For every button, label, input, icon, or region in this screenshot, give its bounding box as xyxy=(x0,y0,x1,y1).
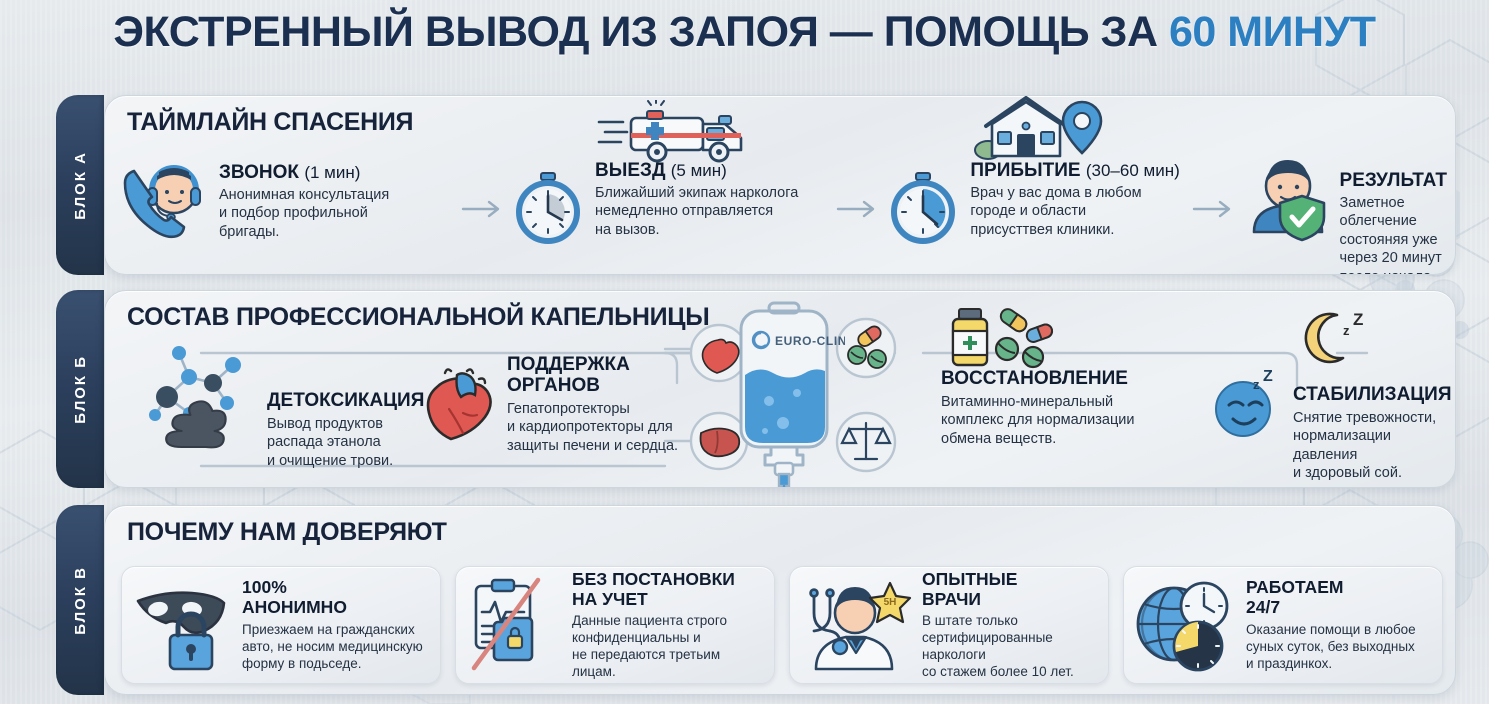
bitem-recovery-head: ВОССТАНОВЛЕНИЕ xyxy=(941,369,1134,390)
svg-text:EURO-CLINIC: EURO-CLINIC xyxy=(775,334,845,348)
bitem-stabilization[interactable]: z Z СТАБИЛИЗАЦИЯ Снятие тревожности, нор… xyxy=(1209,367,1456,483)
vitamins-bottle-icon xyxy=(941,305,1061,373)
moon-sleep-icon: z Z xyxy=(1293,305,1377,371)
svg-text:z: z xyxy=(1253,377,1260,392)
block-b: БЛОК Б СОСТАВ ПРОФЕССИОНАЛЬНОЙ КАПЕЛЬНИЦ… xyxy=(56,290,1456,488)
page-title: ЭКСТРЕННЫЙ ВЫВОД ИЗ ЗАПОЯ — ПОМОЩЬ ЗА 60… xyxy=(0,8,1489,57)
arrow-right-icon xyxy=(836,198,880,220)
doctor-star-icon: 5H xyxy=(798,575,914,675)
block-b-tab: БЛОК Б xyxy=(56,290,104,488)
trust-card-no-record[interactable]: БЕЗ ПОСТАНОВКИ НА УЧЕТ Данные пациента с… xyxy=(455,566,775,684)
timeline-step-arrival[interactable]: ПРИБЫТИЕ (30–60 мин) Врач у вас дома в л… xyxy=(884,148,1187,248)
step-call-desc: Анонимная консультация и подбор профильн… xyxy=(219,186,389,241)
globe-clock-icon xyxy=(1132,576,1238,674)
svg-text:Z: Z xyxy=(1263,369,1273,385)
step-arrival-head: ПРИБЫТИЕ xyxy=(970,160,1080,181)
bitem-detox[interactable]: ДЕТОКСИКАЦИЯ Вывод продуктов распада эта… xyxy=(141,343,391,470)
bitem-organs-head: ПОДДЕРЖКА ОРГАНОВ xyxy=(507,355,678,397)
step-departure-time: (5 мин) xyxy=(671,161,727,180)
step-departure-head: ВЫЕЗД xyxy=(595,160,665,181)
block-a-tab: БЛОК А xyxy=(56,95,104,275)
step-call-head: ЗВОНОК xyxy=(219,162,299,183)
timeline-step-call-text: ЗВОНОК (1 мин) Анонимная консультация и … xyxy=(219,148,389,241)
block-a-panel: ТАЙМЛАЙН СПАСЕНИЯ ЗВО xyxy=(104,95,1456,275)
trust-doctors-desc: В штате только сертифицированные нарколо… xyxy=(922,612,1098,680)
timeline-step-call[interactable]: ЗВОНОК (1 мин) Анонимная консультация и … xyxy=(119,148,457,241)
sleeping-face-icon: z Z xyxy=(1209,369,1283,443)
block-a-title: ТАЙМЛАЙН СПАСЕНИЯ xyxy=(127,108,413,137)
trust-cards-row: 100% АНОНИМНО Приезжаем на гражданских а… xyxy=(121,566,1443,684)
phone-headset-operator-icon xyxy=(119,148,211,240)
step-result-desc: Заметное облегчение состояняя уже через … xyxy=(1340,194,1447,275)
bitem-stabilization-head: СТАБИЛИЗАЦИЯ xyxy=(1293,385,1456,406)
bitem-detox-desc: Вывод продуктов распада этанола и очищен… xyxy=(267,415,424,470)
svg-text:z: z xyxy=(1343,323,1350,338)
arrow-right-icon xyxy=(461,198,505,220)
block-a-tab-label: БЛОК А xyxy=(72,151,89,220)
page-title-main: ЭКСТРЕННЫЙ ВЫВОД ИЗ ЗАПОЯ — ПОМОЩЬ ЗА xyxy=(113,8,1169,56)
trust-247-desc: Оказание помощи в любое суных суток, без… xyxy=(1246,621,1416,672)
step-departure-desc: Ближайший экипаж нарколога немедленно от… xyxy=(595,184,798,239)
heart-icon xyxy=(423,363,497,443)
block-c-tab: БЛОК В xyxy=(56,505,104,695)
arrow-right-icon xyxy=(1192,198,1236,220)
bitem-recovery-desc: Витаминно-минеральный комплекс для норма… xyxy=(941,393,1134,448)
trust-doctors-head: ОПЫТНЫЕ ВРАЧИ xyxy=(922,570,1098,609)
block-c-panel: ПОЧЕМУ НАМ ДОВЕРЯЮТ 100% АНОНИМНО Приезж… xyxy=(104,505,1456,695)
step-result-head: РЕЗУЛЬТАТ xyxy=(1340,170,1447,191)
bitem-stabilization-desc: Снятие тревожности, нормализации давлени… xyxy=(1293,409,1456,483)
trust-card-doctors[interactable]: 5H ОПЫТНЫЕ ВРАЧИ В штате только сертифиц… xyxy=(789,566,1109,684)
bitem-detox-head: ДЕТОКСИКАЦИЯ xyxy=(267,391,424,412)
block-c-tab-label: БЛОК В xyxy=(72,566,89,635)
stopwatch-icon xyxy=(884,170,962,248)
block-a: БЛОК А ТАЙМЛАЙН СПАСЕНИЯ xyxy=(56,95,1456,275)
no-record-clipboard-icon xyxy=(464,576,564,674)
trust-no-record-desc: Данные пациента строго конфиденциальны и… xyxy=(572,612,764,680)
step-arrival-desc: Врач у вас дома в любом городе и области… xyxy=(970,184,1179,239)
block-c: БЛОК В ПОЧЕМУ НАМ ДОВЕРЯЮТ 100% АНОНИМНО… xyxy=(56,505,1456,695)
block-b-panel: СОСТАВ ПРОФЕССИОНАЛЬНОЙ КАПЕЛЬНИЦЫ xyxy=(104,290,1456,488)
svg-text:Z: Z xyxy=(1353,310,1363,329)
page-title-highlight: 60 МИНУТ xyxy=(1169,8,1376,56)
stopwatch-icon xyxy=(509,170,587,248)
house-map-pin-icon xyxy=(970,96,1110,164)
trust-no-record-head: БЕЗ ПОСТАНОВКИ НА УЧЕТ xyxy=(572,570,764,609)
mask-lock-icon xyxy=(130,577,234,673)
timeline-step-result-text: РЕЗУЛЬТАТ Заметное облегчение состояняя … xyxy=(1340,148,1447,275)
timeline-row: ЗВОНОК (1 мин) Анонимная консультация и … xyxy=(119,148,1447,270)
trust-247-head: РАБОТАЕМ 24/7 xyxy=(1246,578,1416,617)
bitem-organs-desc: Гепатопротекторы и кардиопротекторы для … xyxy=(507,400,678,455)
iv-drip-bag-icon: EURO-CLINIC xyxy=(725,297,845,488)
doctor-star-badge-text: 5H xyxy=(884,597,897,608)
timeline-step-departure-text: ВЫЕЗД (5 мин) Ближайший экипаж нарколога… xyxy=(595,148,798,239)
ambulance-icon xyxy=(595,100,773,166)
block-b-tab-label: БЛОК Б xyxy=(72,355,89,424)
timeline-step-result[interactable]: РЕЗУЛЬТАТ Заметное облегчение состояняя … xyxy=(1240,148,1447,275)
block-c-title: ПОЧЕМУ НАМ ДОВЕРЯЮТ xyxy=(127,518,447,547)
trust-anonymous-desc: Приезжаем на гражданских авто, не носим … xyxy=(242,621,423,672)
trust-anonymous-head: 100% АНОНИМНО xyxy=(242,578,423,617)
bitem-organs[interactable]: ПОДДЕРЖКА ОРГАНОВ Гепатопротекторы и кар… xyxy=(423,353,683,455)
molecule-toxin-icon xyxy=(141,331,257,461)
timeline-step-departure[interactable]: ВЫЕЗД (5 мин) Ближайший экипаж нарколога… xyxy=(509,148,832,248)
patient-shield-check-icon xyxy=(1240,152,1332,244)
timeline-step-arrival-text: ПРИБЫТИЕ (30–60 мин) Врач у вас дома в л… xyxy=(970,148,1179,239)
step-call-time: (1 мин) xyxy=(304,163,360,182)
step-arrival-time: (30–60 мин) xyxy=(1086,161,1180,180)
trust-card-247[interactable]: РАБОТАЕМ 24/7 Оказание помощи в любое су… xyxy=(1123,566,1443,684)
trust-card-anonymous[interactable]: 100% АНОНИМНО Приезжаем на гражданских а… xyxy=(121,566,441,684)
bitem-recovery[interactable]: ВОССТАНОВЛЕНИЕ Витаминно-минеральный ком… xyxy=(941,369,1209,448)
